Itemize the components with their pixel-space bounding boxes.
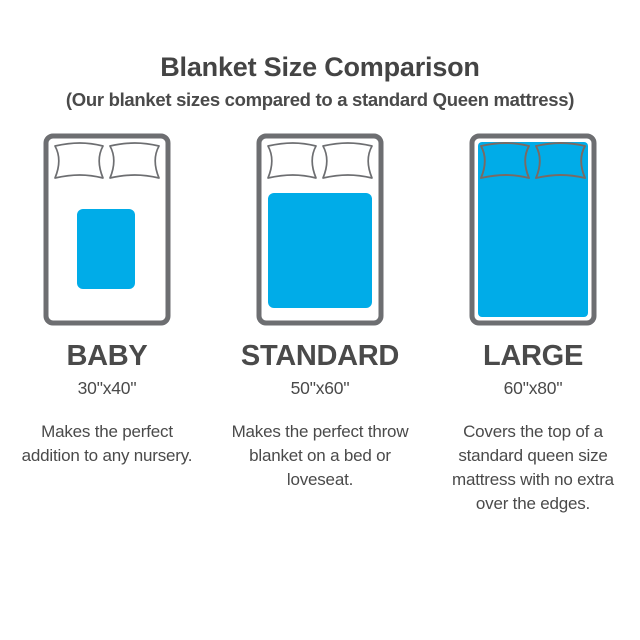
size-dimensions-standard: 50"x60" — [291, 380, 350, 398]
bed-diagram-baby — [43, 133, 171, 326]
comparison-columns: BABY 30"x40" Makes the perfect addition … — [0, 133, 640, 516]
large-blanket — [478, 142, 588, 317]
column-standard: STANDARD 50"x60" Makes the perfect throw… — [214, 133, 427, 492]
bed-diagram-standard — [256, 133, 384, 326]
pillow-left-icon — [55, 143, 103, 178]
column-large: LARGE 60"x80" Covers the top of a standa… — [427, 133, 640, 516]
pillow-left-icon — [268, 143, 316, 178]
size-name-large: LARGE — [483, 342, 583, 371]
column-baby: BABY 30"x40" Makes the perfect addition … — [1, 133, 214, 468]
pillow-right-icon — [110, 143, 159, 178]
description-large: Covers the top of a standard queen size … — [438, 420, 628, 517]
blanket-size-comparison-infographic: Blanket Size Comparison (Our blanket siz… — [0, 0, 640, 640]
page-title: Blanket Size Comparison — [0, 52, 640, 83]
size-name-standard: STANDARD — [241, 342, 399, 371]
header: Blanket Size Comparison (Our blanket siz… — [0, 0, 640, 111]
pillow-right-icon — [323, 143, 372, 178]
size-dimensions-large: 60"x80" — [504, 380, 563, 398]
page-subtitle: (Our blanket sizes compared to a standar… — [0, 89, 640, 111]
standard-blanket — [268, 193, 372, 308]
description-baby: Makes the perfect addition to any nurser… — [12, 420, 202, 468]
baby-blanket — [77, 209, 135, 289]
size-name-baby: BABY — [67, 342, 148, 371]
size-dimensions-baby: 30"x40" — [78, 380, 137, 398]
bed-diagram-large — [469, 133, 597, 326]
description-standard: Makes the perfect throw blanket on a bed… — [225, 420, 415, 492]
